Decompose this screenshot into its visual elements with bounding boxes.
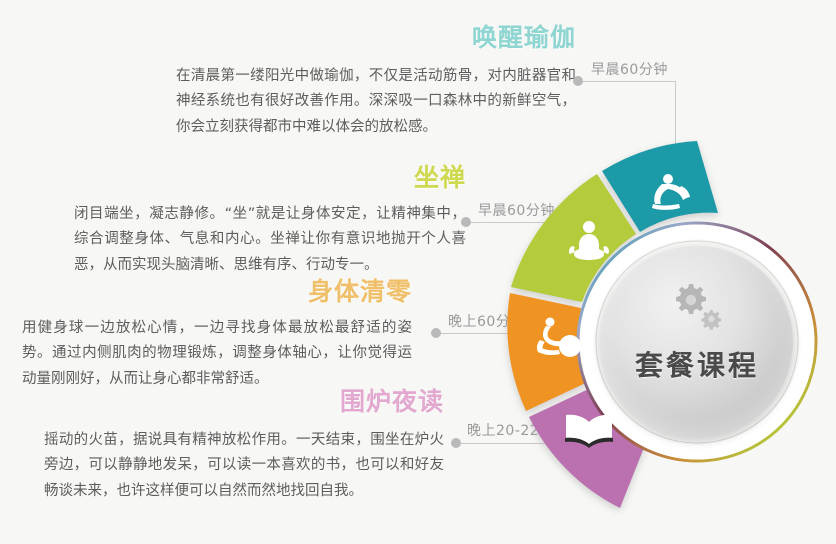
center-label: 套餐课程 — [635, 344, 759, 384]
section-title-body-reset: 身体清零 — [308, 278, 412, 306]
leader-line-wake-yoga — [583, 81, 675, 82]
section-title-fireside-reading: 围炉夜读 — [340, 388, 444, 416]
section-body-body-reset: 用健身球一边放松心情，一边寻找身体最放松最舒适的姿势。通过内侧肌肉的物理锻炼，调… — [22, 316, 412, 392]
section-body-wake-yoga: 在清晨第一缕阳光中做瑜伽，不仅是活动筋骨，对内脏器官和神经系统也有很好改善作用。… — [176, 64, 576, 140]
leader-dot-fireside-reading — [451, 438, 461, 448]
section-body-zen-sitting: 闭目端坐，凝志静修。“坐”就是让身体安定，让精神集中，综合调整身体、气息和内心。… — [74, 202, 466, 278]
exercise-ball-icon — [532, 310, 586, 364]
center-hub[interactable]: 套餐课程 — [601, 246, 793, 438]
time-label-wake-yoga: 早晨60分钟 — [591, 59, 668, 79]
infographic-canvas: 唤醒瑜伽 在清晨第一缕阳光中做瑜伽，不仅是活动筋骨，对内脏器官和神经系统也有很好… — [0, 0, 836, 544]
course-wheel: 套餐课程 — [470, 130, 836, 544]
leader-dot-wake-yoga — [573, 76, 583, 86]
section-body-fireside-reading: 摇动的火苗，据说具有精神放松作用。一天结束，围坐在炉火旁边，可以静静地发呆，可以… — [44, 428, 444, 504]
lotus-meditation-icon — [562, 216, 616, 270]
open-book-icon — [562, 402, 616, 456]
section-block-fireside-reading: 围炉夜读 摇动的火苗，据说具有精神放松作用。一天结束，围坐在炉火旁边，可以静静地… — [44, 388, 444, 504]
section-title-wake-yoga: 唤醒瑜伽 — [472, 24, 576, 52]
leader-dot-body-reset — [431, 328, 441, 338]
section-title-zen-sitting: 坐禅 — [414, 164, 466, 192]
gear-icon — [662, 280, 732, 332]
section-block-body-reset: 身体清零 用健身球一边放松心情，一边寻找身体最放松最舒适的姿势。通过内侧肌肉的物… — [22, 278, 412, 392]
section-block-zen-sitting: 坐禅 闭目端坐，凝志静修。“坐”就是让身体安定，让精神集中，综合调整身体、气息和… — [74, 164, 466, 278]
yoga-pose-icon — [645, 166, 699, 220]
gear-small-icon — [701, 310, 721, 330]
section-block-wake-yoga: 唤醒瑜伽 在清晨第一缕阳光中做瑜伽，不仅是活动筋骨，对内脏器官和神经系统也有很好… — [176, 24, 576, 140]
